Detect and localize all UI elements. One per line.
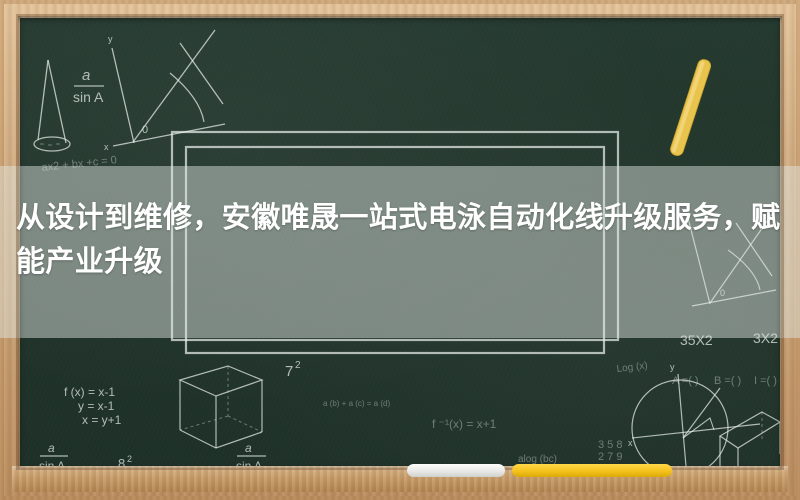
title-line-2: 能产业升级 (16, 240, 786, 284)
yellow-chalk-stick-tray (512, 464, 672, 477)
page-title: 从设计到维修，安徽唯晟一站式电泳自动化线升级服务，赋 能产业升级 (16, 196, 786, 284)
chalk-tray (20, 464, 780, 478)
chalkboard-banner: a sin A ax2 + bx +c = 0 y x 0 (0, 0, 800, 500)
title-line-1: 从设计到维修，安徽唯晟一站式电泳自动化线升级服务，赋 (16, 196, 786, 240)
white-chalk-stick (407, 464, 505, 477)
